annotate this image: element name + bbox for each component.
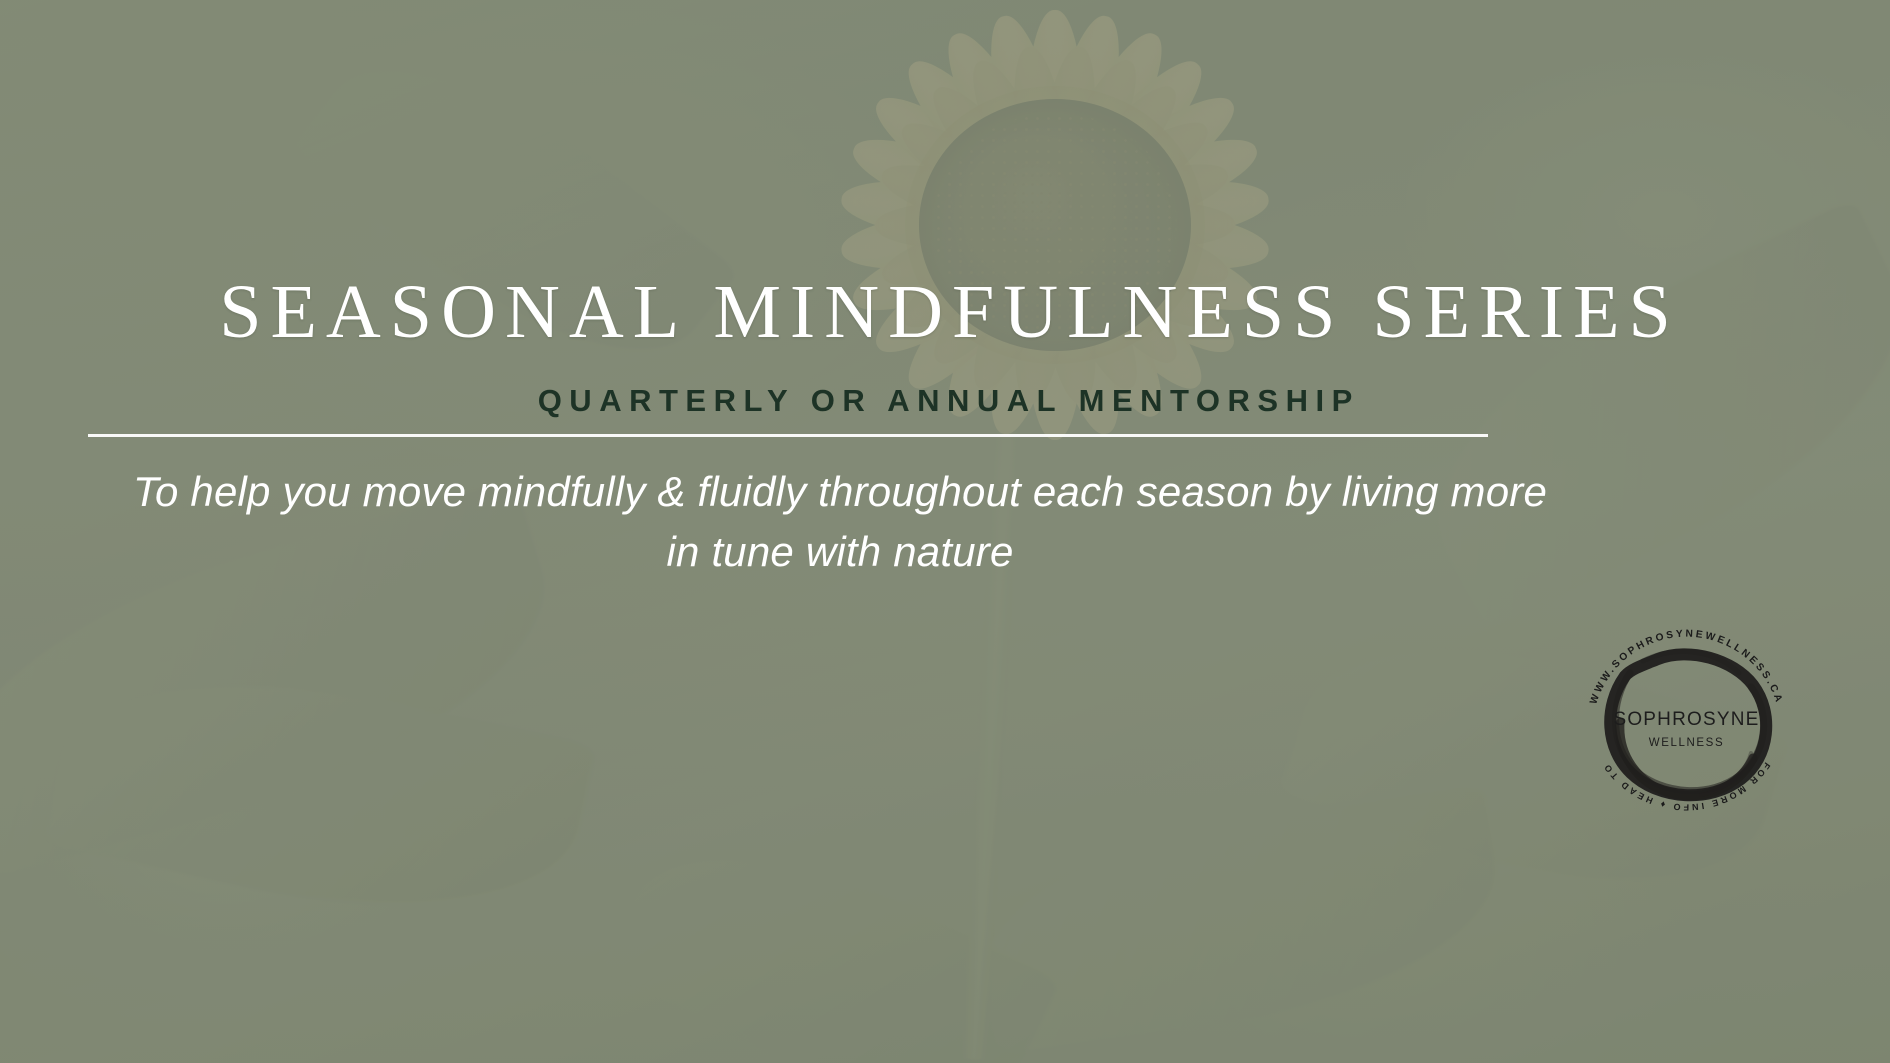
divider-line — [88, 434, 1488, 437]
banner-subheadline: QUARTERLY OR ANNUAL MENTORSHIP — [0, 383, 1890, 419]
logo-brand-name: SOPHROSYNE — [1613, 709, 1759, 730]
banner-description: To help you move mindfully & fluidly thr… — [120, 462, 1560, 581]
promotional-banner: SEASONAL MINDFULNESS SERIES QUARTERLY OR… — [0, 0, 1890, 1063]
banner-headline: SEASONAL MINDFULNESS SERIES — [0, 274, 1890, 350]
logo-brand-tagline: WELLNESS — [1649, 737, 1724, 749]
sophrosyne-wellness-logo-stamp[interactable]: WWW.SOPHROSYNEWELLNESS.CA FOR MORE INFO … — [1573, 603, 1800, 830]
banner-content: SEASONAL MINDFULNESS SERIES QUARTERLY OR… — [0, 0, 1890, 1063]
